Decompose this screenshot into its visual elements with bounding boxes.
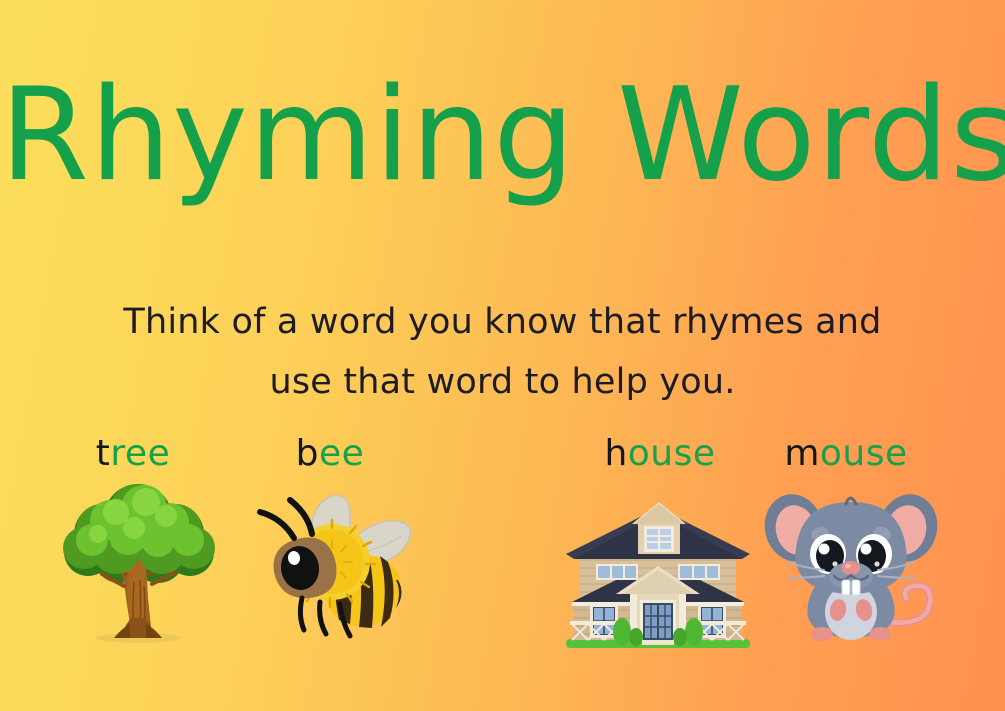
word-onset-mouse: m xyxy=(784,433,820,474)
word-rime-bee: ee xyxy=(319,433,364,474)
word-onset-house: h xyxy=(604,433,627,474)
word-onset-bee: b xyxy=(296,433,319,474)
word-label-house: house xyxy=(570,436,750,472)
page-title: Rhyming Words xyxy=(0,72,1005,200)
word-rime-tree: ree xyxy=(110,433,170,474)
word-rime-house: ouse xyxy=(628,433,716,474)
word-label-bee: bee xyxy=(240,436,420,472)
instruction-line-2: use that word to help you. xyxy=(0,352,1005,412)
word-label-mouse: mouse xyxy=(756,436,936,472)
tree-illustration-icon xyxy=(52,478,224,650)
instruction-line-1: Think of a word you know that rhymes and xyxy=(0,292,1005,352)
word-onset-tree: t xyxy=(96,433,111,474)
word-rime-mouse: ouse xyxy=(820,433,908,474)
mouse-illustration-icon xyxy=(762,476,940,654)
instruction-text: Think of a word you know that rhymes and… xyxy=(0,292,1005,412)
word-label-tree: tree xyxy=(43,436,223,472)
house-illustration-icon xyxy=(558,490,758,653)
rhyming-words-poster: Rhyming Words Think of a word you know t… xyxy=(0,0,1005,711)
bee-illustration-icon xyxy=(246,488,422,648)
